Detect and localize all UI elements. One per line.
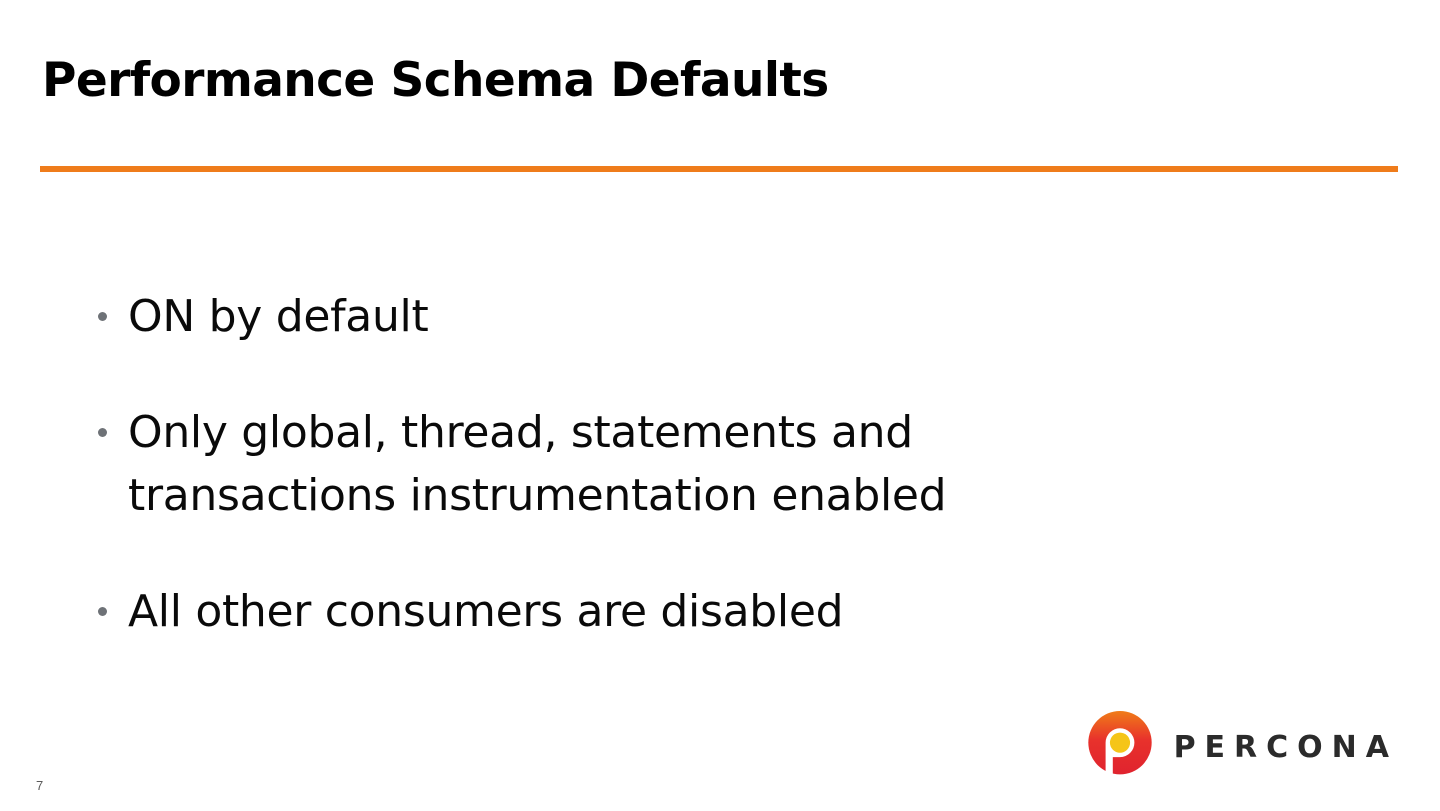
bullet-dot-icon: [98, 607, 107, 616]
percona-wordmark: PERCONA: [1174, 731, 1398, 763]
list-item-label: All other consumers are disabled: [128, 581, 1150, 643]
list-item: All other consumers are disabled: [90, 581, 1150, 643]
list-item-label: ON by default: [128, 286, 1150, 348]
list-item: ON by default: [90, 286, 1150, 348]
slide: Performance Schema Defaults ON by defaul…: [0, 0, 1440, 811]
percona-logo: PERCONA: [1084, 711, 1398, 783]
list-item-label: Only global, thread, statements and tran…: [128, 402, 1088, 527]
bullet-dot-icon: [98, 428, 107, 437]
bullet-list: ON by default Only global, thread, state…: [90, 286, 1150, 644]
list-item: Only global, thread, statements and tran…: [90, 402, 1150, 527]
page-title: Performance Schema Defaults: [42, 56, 829, 105]
title-divider-rule: [40, 166, 1398, 172]
bullet-dot-icon: [98, 312, 107, 321]
slide-number: 7: [36, 778, 43, 793]
percona-p-mark-icon: [1084, 711, 1156, 783]
